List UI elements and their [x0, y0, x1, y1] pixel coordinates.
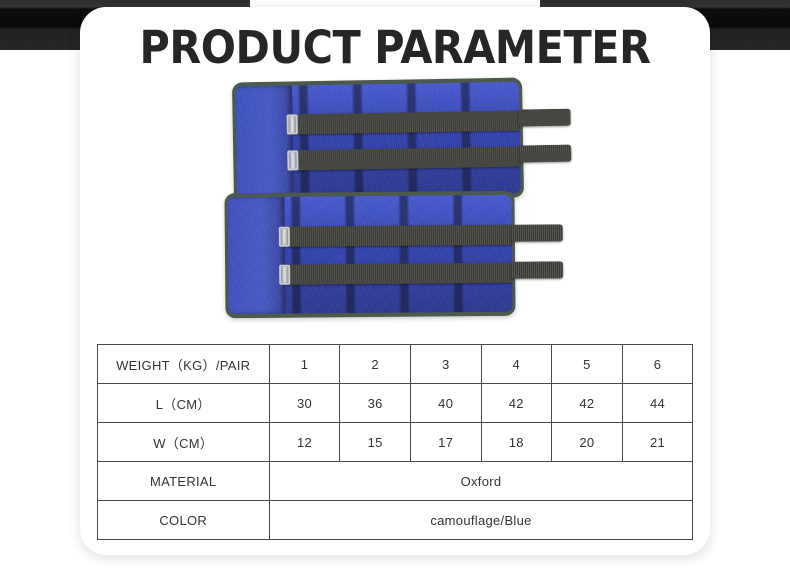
row-label-cell: MATERIAL — [97, 462, 269, 501]
row-value-cell: 21 — [622, 423, 693, 462]
row-label-cell: COLOR — [97, 501, 269, 540]
metal-buckle-icon — [287, 150, 298, 170]
table-row: COLORcamouflage/Blue — [97, 501, 693, 540]
row-value-cell: 40 — [410, 384, 481, 423]
webbing-strap — [293, 146, 521, 170]
pad-body — [235, 82, 521, 199]
strap-tail — [518, 109, 570, 127]
row-label-cell: L（CM） — [97, 384, 269, 423]
metal-buckle-icon — [287, 115, 298, 135]
pad-end-cushion — [235, 85, 294, 198]
table-row: WEIGHT（KG）/PAIR123456 — [97, 345, 693, 384]
row-value-cell: 42 — [552, 384, 623, 423]
strap-tail — [511, 224, 563, 241]
row-value-cell: 20 — [552, 423, 623, 462]
pad-end-cushion — [227, 197, 285, 314]
row-value-cell: 3 — [410, 345, 481, 384]
row-value-cell: 5 — [552, 345, 623, 384]
page-title: PRODUCT PARAMETER — [105, 25, 685, 70]
table-row: MATERIALOxford — [97, 462, 693, 501]
row-value-cell: 30 — [269, 384, 340, 423]
weight-pad-top — [232, 77, 524, 202]
row-value-cell: 18 — [481, 423, 552, 462]
metal-buckle-icon — [279, 227, 290, 247]
row-value-cell: 42 — [481, 384, 552, 423]
strap-tail — [519, 145, 571, 163]
row-value-cell: 1 — [269, 345, 340, 384]
specification-table-body: WEIGHT（KG）/PAIR123456L（CM）303640424244W（… — [97, 345, 693, 540]
weight-pad-bottom — [224, 191, 515, 319]
webbing-strap — [285, 225, 512, 247]
product-photo — [215, 80, 575, 330]
row-value-cell: 12 — [269, 423, 340, 462]
webbing-strap — [292, 111, 520, 135]
row-value-cell: 44 — [622, 384, 693, 423]
row-label-cell: W（CM） — [97, 423, 269, 462]
table-row: L（CM）303640424244 — [97, 384, 693, 423]
row-value-cell: 6 — [622, 345, 693, 384]
row-value-cell: 15 — [340, 423, 411, 462]
product-parameter-card: PRODUCT PARAMETER — [80, 7, 710, 555]
specification-table: WEIGHT（KG）/PAIR123456L（CM）303640424244W（… — [97, 344, 694, 540]
strap-tail — [511, 262, 563, 279]
pad-body — [227, 195, 512, 314]
webbing-strap — [285, 263, 512, 285]
row-label-cell: WEIGHT（KG）/PAIR — [97, 345, 269, 384]
row-value-cell: Oxford — [269, 462, 693, 501]
table-row: W（CM）121517182021 — [97, 423, 693, 462]
row-value-cell: camouflage/Blue — [269, 501, 693, 540]
row-value-cell: 36 — [340, 384, 411, 423]
row-value-cell: 4 — [481, 345, 552, 384]
metal-buckle-icon — [279, 265, 290, 285]
row-value-cell: 2 — [340, 345, 411, 384]
row-value-cell: 17 — [410, 423, 481, 462]
